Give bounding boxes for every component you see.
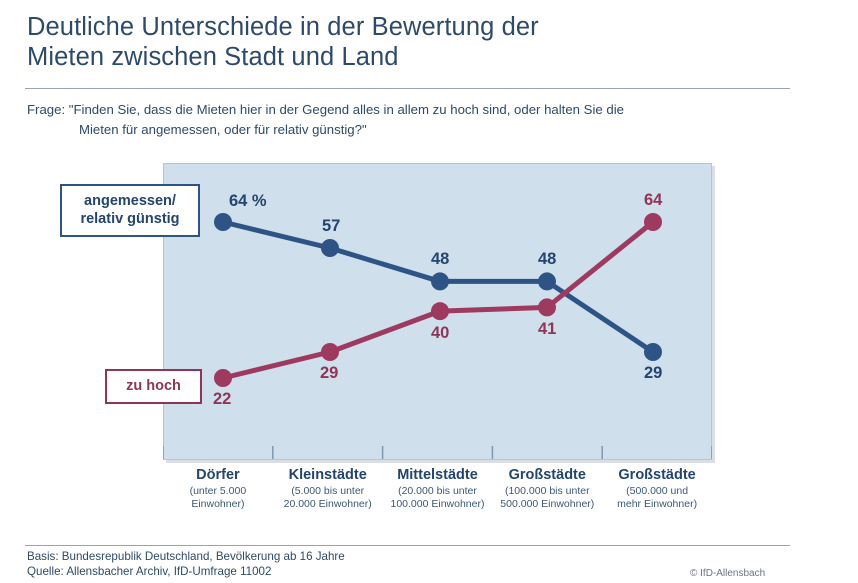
question-line-1: Frage: "Finden Sie, dass die Mieten hier…	[27, 100, 817, 120]
x-axis-category-name: Dörfer	[164, 466, 272, 484]
data-point-label: 29	[644, 364, 662, 383]
x-axis-category-sublabel: (20.000 bis unter 100.000 Einwohner)	[384, 485, 492, 511]
data-point-label: 48	[431, 250, 449, 269]
legend-angemessen-relativ-guenstig[interactable]: angemessen/ relativ günstig	[60, 184, 200, 237]
x-axis-category-3: Mittelstädte(20.000 bis unter 100.000 Ei…	[383, 466, 493, 526]
data-point-label: 29	[320, 364, 338, 383]
x-axis-category-name: Kleinstädte	[274, 466, 382, 484]
data-point[interactable]	[538, 298, 556, 316]
data-point-label: 64 %	[229, 192, 267, 211]
x-axis-category-2: Kleinstädte(5.000 bis unter 20.000 Einwo…	[273, 466, 383, 526]
question-text: Frage: "Finden Sie, dass die Mieten hier…	[27, 100, 817, 140]
data-point-label: 22	[213, 390, 231, 409]
data-point[interactable]	[644, 343, 662, 361]
footer-source-note: Basis: Bundesrepublik Deutschland, Bevöl…	[27, 549, 345, 579]
header-block: Deutliche Unterschiede in der Bewertung …	[27, 12, 817, 72]
data-point[interactable]	[214, 213, 232, 231]
page-title: Deutliche Unterschiede in der Bewertung …	[27, 12, 817, 72]
footer-divider	[25, 545, 790, 546]
x-axis-category-4: Großstädte(100.000 bis unter 500.000 Ein…	[492, 466, 602, 526]
x-axis-labels: Dörfer(unter 5.000 Einwohner)Kleinstädte…	[163, 466, 712, 526]
data-point[interactable]	[538, 272, 556, 290]
footer-copyright: © IfD-Allensbach	[690, 568, 765, 579]
data-point-label: 41	[538, 320, 556, 339]
series-lines	[223, 222, 653, 378]
data-point[interactable]	[321, 343, 339, 361]
x-axis-category-name: Mittelstädte	[384, 466, 492, 484]
x-axis-category-sublabel: (5.000 bis unter 20.000 Einwohner)	[274, 485, 382, 511]
data-point-label: 48	[538, 250, 556, 269]
data-point[interactable]	[644, 213, 662, 231]
x-axis-category-sublabel: (unter 5.000 Einwohner)	[164, 485, 272, 511]
x-axis-category-name: Großstädte	[603, 466, 711, 484]
data-point-label: 40	[431, 324, 449, 343]
x-axis-category-5: Großstädte(500.000 und mehr Einwohner)	[602, 466, 712, 526]
data-point[interactable]	[321, 239, 339, 257]
data-point-label: 57	[322, 217, 340, 236]
series-line	[223, 222, 653, 378]
x-axis-category-sublabel: (500.000 und mehr Einwohner)	[603, 485, 711, 511]
axis-tick-marks	[163, 446, 712, 459]
data-point[interactable]	[214, 369, 232, 387]
x-axis-category-sublabel: (100.000 bis unter 500.000 Einwohner)	[493, 485, 601, 511]
legend-zu-hoch[interactable]: zu hoch	[105, 369, 202, 404]
question-line-2: Mieten für angemessen, oder für relativ …	[27, 120, 817, 140]
data-point[interactable]	[431, 272, 449, 290]
title-divider	[25, 88, 790, 89]
x-axis-category-1: Dörfer(unter 5.000 Einwohner)	[163, 466, 273, 526]
data-point[interactable]	[431, 302, 449, 320]
data-point-label: 64	[644, 191, 662, 210]
series-points	[214, 213, 662, 387]
x-axis-category-name: Großstädte	[493, 466, 601, 484]
